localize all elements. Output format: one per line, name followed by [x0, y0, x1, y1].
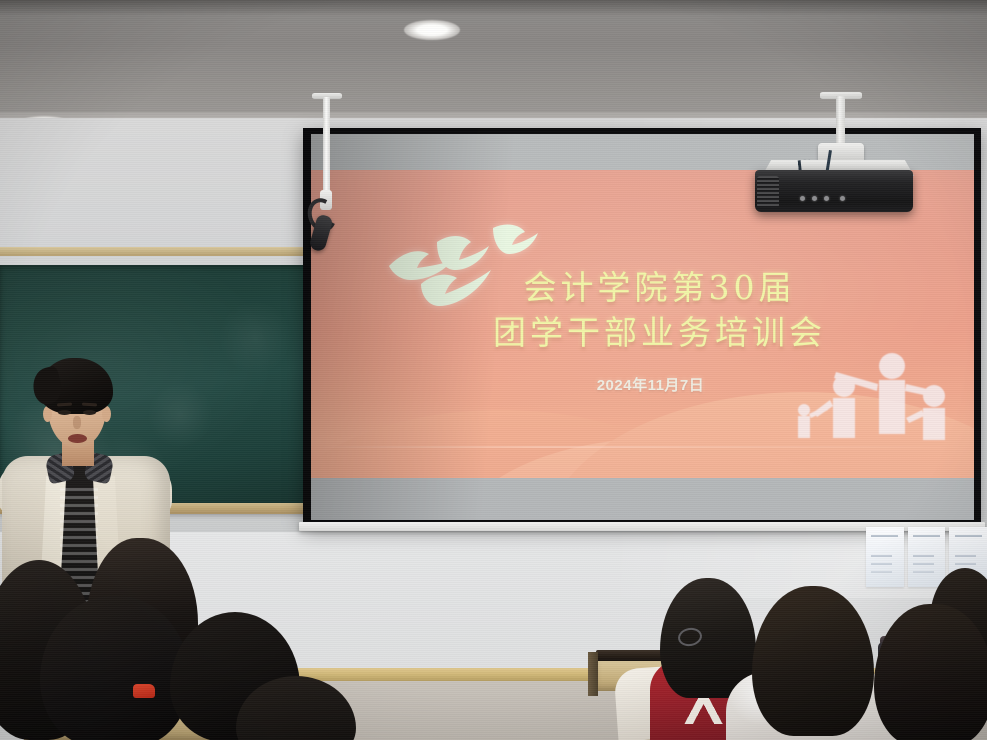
ceiling-shadow: [0, 0, 987, 16]
slide-text-block: 会计学院第30届 团学干部业务培训会 2024年11月7日: [311, 266, 974, 395]
projected-slide: 会计学院第30届 团学干部业务培训会 2024年11月7日: [311, 170, 974, 478]
presenter-nose: [73, 416, 81, 429]
paper-notice: [908, 527, 946, 587]
projector-indicator-led: [824, 196, 829, 201]
paper-notice: [866, 527, 904, 587]
slide-title-line1: 会计学院第30届: [345, 266, 974, 311]
doves-graphic: [373, 222, 553, 312]
slide-hill-left: [311, 410, 731, 478]
projector-indicator-led: [840, 196, 845, 201]
children-silhouettes-graphic: [788, 350, 968, 442]
red-object-on-desk: [133, 684, 155, 698]
chalkboard-top-trim: [0, 247, 311, 256]
slide-hill-right: [544, 392, 974, 478]
classroom-presentation-photo: 会计学院第30届 团学干部业务培训会 2024年11月7日: [0, 0, 987, 740]
recessed-ceiling-light: [404, 20, 460, 40]
projector-vent-grille: [757, 176, 779, 208]
microphone-drop-pole: [323, 97, 330, 197]
projector-indicator-led: [800, 196, 805, 201]
slide-title-line2: 团学干部业务培训会: [345, 311, 974, 356]
presenter-eye-left: [58, 410, 71, 415]
slide-date: 2024年11月7日: [311, 374, 974, 395]
projector-light-glow: [311, 170, 974, 478]
projector-mount-pole: [836, 96, 845, 148]
slide-hill-center: [451, 438, 871, 478]
slide-horizon-line: [311, 446, 974, 448]
presenter-eye-right: [83, 410, 96, 415]
projector-indicator-led: [812, 196, 817, 201]
presenter-mouth: [68, 434, 87, 443]
